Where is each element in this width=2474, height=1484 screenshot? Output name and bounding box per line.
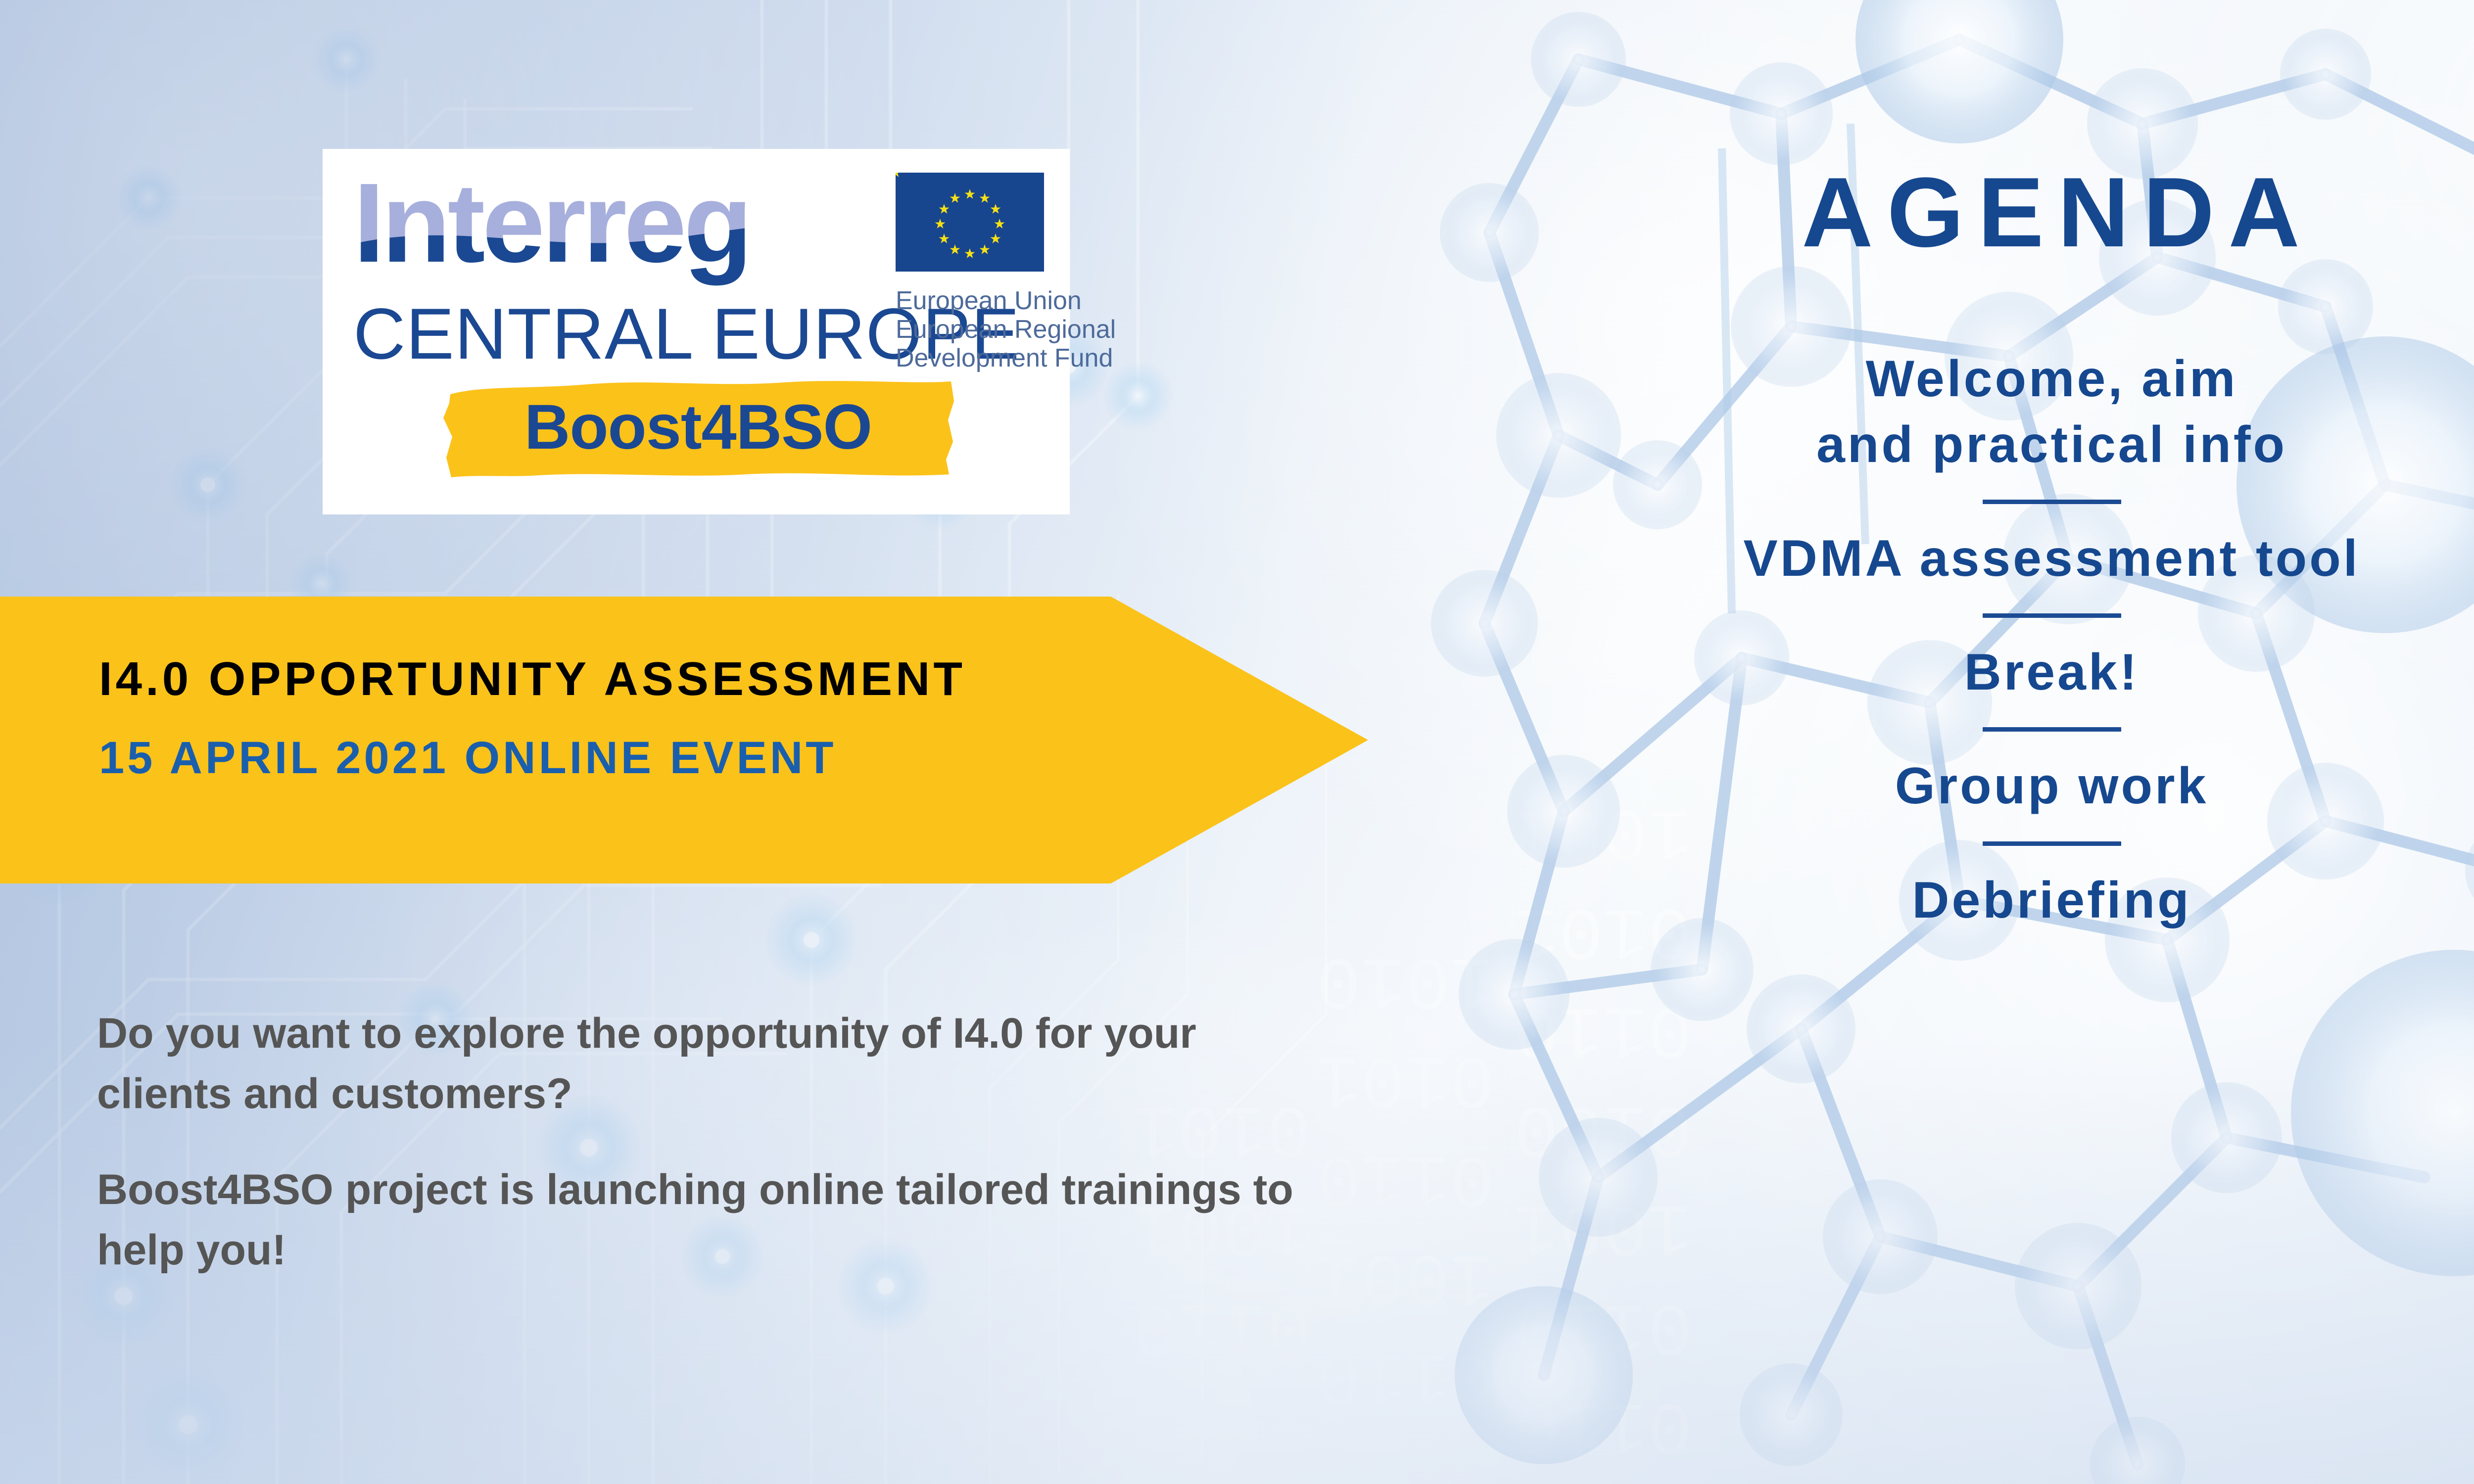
agenda-separator-1 [1983,500,2121,504]
eu-fund-caption: European Union European Regional Develop… [896,286,1054,373]
agenda-item-welcome: Welcome, aimand practical info [1465,346,2474,478]
agenda-list: Welcome, aimand practical info VDMA asse… [1465,346,2474,933]
banner-subtitle: 15 APRIL 2021 ONLINE EVENT [99,732,1089,785]
event-banner: I4.0 OPPORTUNITY ASSESSMENT 15 APRIL 202… [0,597,1368,883]
agenda-title: AGENDA [1476,163,2474,262]
poster-canvas: 0110 0110 1001 0100 0110 0101 1001 0110 … [0,0,2474,1484]
agenda-separator-4 [1983,841,2121,846]
agenda-item-break: Break! [1465,640,2474,705]
agenda-item-vdma-tool: VDMA assessment tool [1465,526,2474,592]
european-union-flag-icon [896,173,1044,272]
boost4bso-project-name: Boost4BSO [438,372,958,481]
banner-title: I4.0 OPPORTUNITY ASSESSMENT [99,652,1089,706]
agenda-panel: AGENDA Welcome, aimand practical info VD… [1465,163,2474,933]
agenda-item-debriefing: Debriefing [1465,868,2474,933]
eu-caption-line-2: European Regional [896,315,1054,344]
interreg-logo-card: Interreg Interreg CENTRAL EUROPE [323,149,1070,514]
eu-caption-line-3: Development Fund [896,344,1054,372]
agenda-separator-2 [1983,613,2121,618]
interreg-wordmark: Interreg Interreg [353,169,878,287]
agenda-separator-3 [1983,727,2121,732]
agenda-item-group-work: Group work [1465,753,2474,819]
body-paragraph-2: Boost4BSO project is launching online ta… [97,1159,1334,1280]
body-paragraph-1: Do you want to explore the opportunity o… [97,1003,1334,1124]
body-copy: Do you want to explore the opportunity o… [97,1003,1334,1280]
eu-caption-line-1: European Union [896,286,1054,315]
